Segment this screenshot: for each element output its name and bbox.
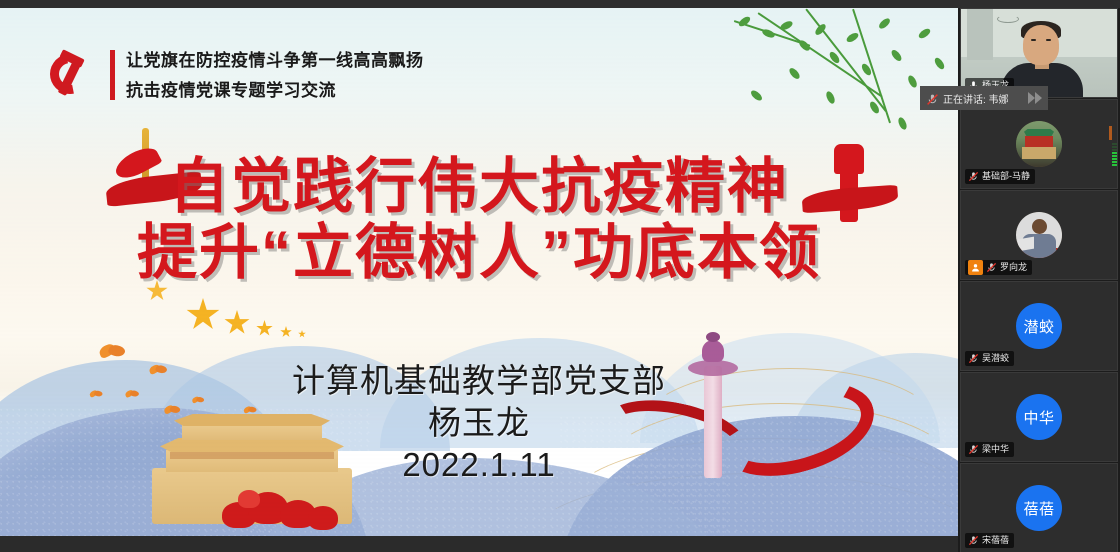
participant-name: 梁中华 — [982, 442, 1009, 457]
subtitle-date: 2022.1.11 — [0, 444, 958, 486]
presentation-slide: 让党旗在防控疫情斗争第一线高高飘扬 抗击疫情党课专题学习交流 — [0, 8, 958, 536]
mic-muted-icon — [968, 171, 979, 182]
gold-stars-icon — [224, 310, 250, 336]
stage-bottom-edge — [0, 536, 958, 544]
chevron-right-icon[interactable] — [1028, 92, 1042, 104]
participant-name: 罗向龙 — [1000, 260, 1027, 275]
flying-birds-icon — [99, 345, 125, 359]
header-line2: 抗击疫情党课专题学习交流 — [126, 76, 336, 106]
meeting-window: 让党旗在防控疫情斗争第一线高高飘扬 抗击疫情党课专题学习交流 — [0, 0, 1120, 552]
mic-muted-icon — [926, 93, 937, 104]
mic-muted-icon — [968, 444, 979, 455]
avatar: 蓓蓓 — [1016, 485, 1062, 531]
mic-muted-icon — [986, 262, 997, 273]
participant-tile[interactable]: 基础部-马静 — [960, 99, 1118, 189]
red-peony-icon — [222, 488, 342, 534]
participant-tile[interactable]: 罗向龙 — [960, 190, 1118, 280]
participant-tile[interactable]: 蓓蓓 宋蓓蓓 — [960, 463, 1118, 552]
participant-name: 吴潜蛟 — [982, 351, 1009, 366]
active-speaker-notice[interactable]: 正在讲话: 韦娜 — [920, 86, 1048, 110]
slide-subtitle: 计算机基础教学部党支部 杨玉龙 2022.1.11 — [0, 360, 958, 486]
participant-name: 宋蓓蓓 — [982, 533, 1009, 548]
header-line1: 让党旗在防控疫情斗争第一线高高飘扬 — [126, 46, 424, 76]
gold-stars-icon — [280, 326, 292, 338]
party-emblem-hammer-sickle-icon — [48, 48, 100, 100]
participant-name-chip: 梁中华 — [965, 442, 1014, 457]
slide-header: 让党旗在防控疫情斗争第一线高高飘扬 抗击疫情党课专题学习交流 — [48, 46, 468, 108]
gold-stars-icon — [186, 298, 220, 332]
slide-title: 自觉践行伟大抗疫精神 提升“立德树人”功底本领 — [0, 154, 958, 286]
slide-title-line1: 自觉践行伟大抗疫精神 — [0, 154, 958, 220]
active-speaker-label: 正在讲话: 韦娜 — [943, 91, 1009, 106]
gold-stars-icon — [256, 320, 273, 337]
participant-name: 基础部-马静 — [982, 169, 1030, 184]
volume-meter — [1112, 130, 1117, 166]
mic-muted-icon — [968, 535, 979, 546]
participant-name-chip: 宋蓓蓓 — [965, 533, 1014, 548]
slide-title-line2: 提升“立德树人”功底本领 — [0, 220, 958, 286]
subtitle-org: 计算机基础教学部党支部 — [0, 360, 958, 402]
participant-tile[interactable]: 中华 梁中华 — [960, 372, 1118, 462]
avatar — [1016, 121, 1062, 167]
participant-tile[interactable]: 潜蛟 吴潜蛟 — [960, 281, 1118, 371]
participant-name-chip: 罗向龙 — [965, 260, 1032, 275]
subtitle-presenter: 杨玉龙 — [0, 402, 958, 444]
gold-stars-icon — [298, 330, 306, 338]
participant-tile[interactable]: 杨玉龙 — [960, 8, 1118, 98]
willow-branch-icon — [728, 8, 958, 158]
participant-name-chip: 吴潜蛟 — [965, 351, 1014, 366]
avatar: 中华 — [1016, 394, 1062, 440]
mic-muted-icon — [968, 353, 979, 364]
avatar: 潜蛟 — [1016, 303, 1062, 349]
participant-name-chip: 基础部-马静 — [965, 169, 1035, 184]
window-title-bar — [0, 0, 1120, 8]
host-badge-icon — [968, 260, 983, 275]
header-divider — [110, 50, 115, 100]
avatar — [1016, 212, 1062, 258]
shared-screen-stage[interactable]: 让党旗在防控疫情斗争第一线高高飘扬 抗击疫情党课专题学习交流 — [0, 8, 958, 544]
